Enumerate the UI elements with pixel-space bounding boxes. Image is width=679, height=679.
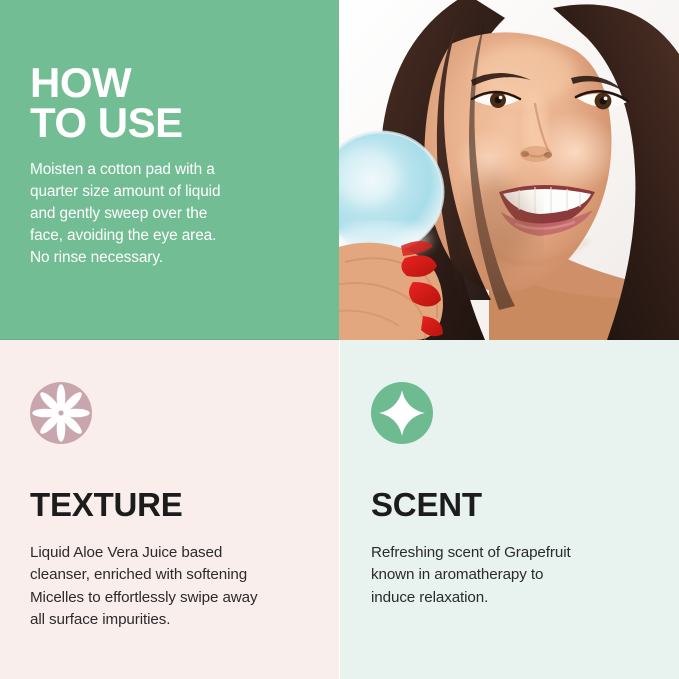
how-to-use-title: HOW TO USE bbox=[30, 63, 317, 143]
scent-content: SCENT Refreshing scent of Grapefruit kno… bbox=[371, 382, 659, 609]
texture-title: TEXTURE bbox=[30, 488, 319, 521]
panel-scent: SCENT Refreshing scent of Grapefruit kno… bbox=[339, 340, 679, 679]
how-to-use-body: Moisten a cotton pad with a quarter size… bbox=[30, 159, 317, 270]
quadrant-grid: HOW TO USE Moisten a cotton pad with a q… bbox=[0, 0, 679, 679]
panel-texture: TEXTURE Liquid Aloe Vera Juice based cle… bbox=[0, 340, 339, 679]
panel-model-photo bbox=[339, 0, 679, 340]
scent-title: SCENT bbox=[371, 488, 659, 521]
panel-how-to-use: HOW TO USE Moisten a cotton pad with a q… bbox=[0, 0, 339, 340]
product-info-infographic: HOW TO USE Moisten a cotton pad with a q… bbox=[0, 0, 679, 679]
scent-body: Refreshing scent of Grapefruit known in … bbox=[371, 542, 659, 609]
how-to-use-content: HOW TO USE Moisten a cotton pad with a q… bbox=[30, 63, 317, 270]
texture-content: TEXTURE Liquid Aloe Vera Juice based cle… bbox=[30, 382, 319, 631]
texture-body: Liquid Aloe Vera Juice based cleanser, e… bbox=[30, 542, 319, 631]
model-photo bbox=[339, 0, 679, 340]
sparkle-icon bbox=[371, 382, 433, 444]
flower-icon bbox=[30, 382, 92, 444]
